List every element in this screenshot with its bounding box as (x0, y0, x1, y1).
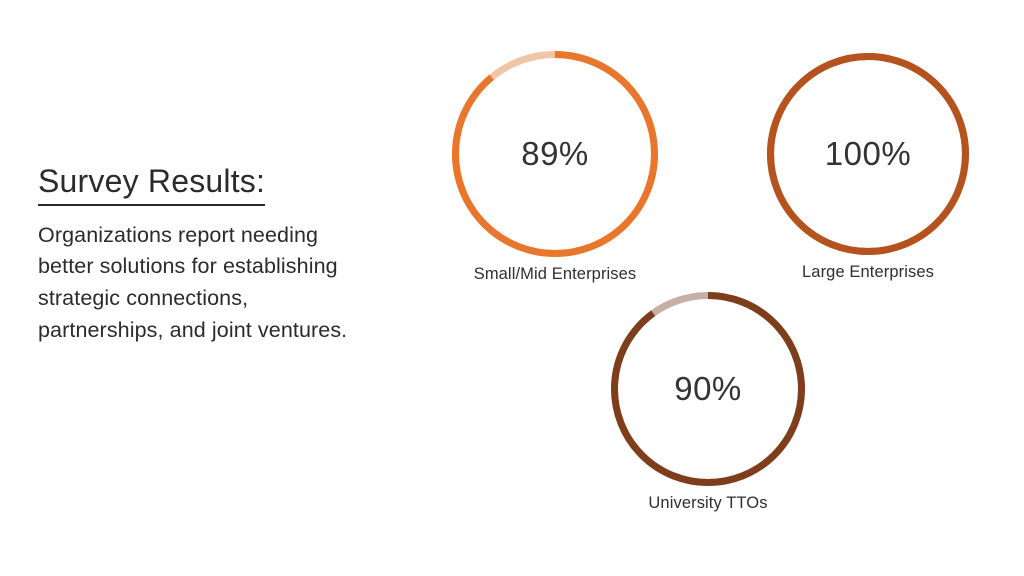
donut-label-university-ttos: University TTOs (648, 494, 767, 513)
donut-arc-large-enterprises (771, 57, 966, 252)
donut-arc-small-mid-enterprises (456, 55, 655, 254)
donut-ring-small-mid-enterprises (452, 51, 658, 257)
body-paragraph: Organizations report needing better solu… (38, 220, 358, 346)
donut-chart-large-enterprises: 100% Large Enterprises (767, 53, 969, 255)
text-block: Survey Results: Organizations report nee… (38, 163, 368, 346)
donut-chart-university-ttos: 90% University TTOs (611, 292, 805, 486)
page-title: Survey Results: (38, 163, 265, 206)
donut-ring-university-ttos (611, 292, 805, 486)
donut-chart-small-mid-enterprises: 89% Small/Mid Enterprises (452, 51, 658, 257)
slide-canvas: Survey Results: Organizations report nee… (0, 0, 1024, 576)
donut-arc-university-ttos (615, 296, 802, 483)
donut-label-large-enterprises: Large Enterprises (802, 263, 934, 282)
donut-label-small-mid-enterprises: Small/Mid Enterprises (474, 265, 637, 284)
donut-ring-large-enterprises (767, 53, 969, 255)
